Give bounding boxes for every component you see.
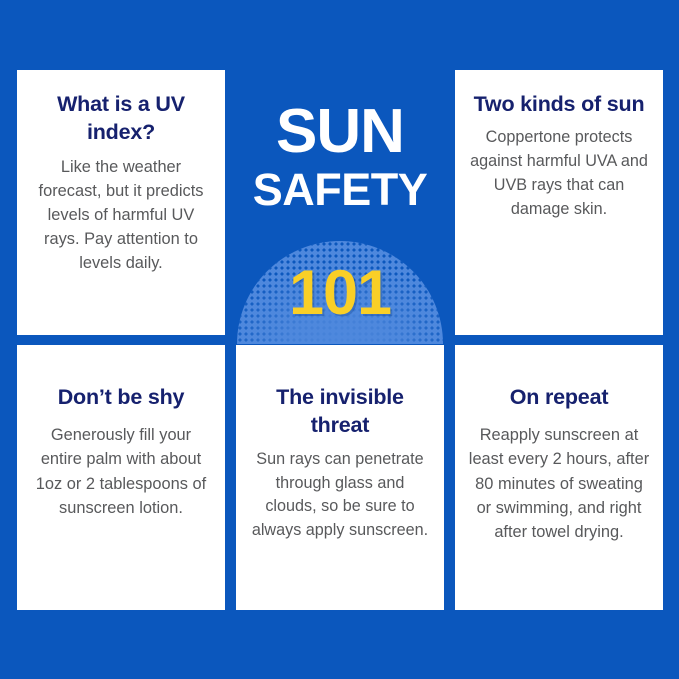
sun-safety-logo: SUN SAFETY 101 bbox=[236, 70, 444, 335]
card-title: What is a UV index? bbox=[29, 90, 213, 147]
card-title: The invisible threat bbox=[248, 383, 432, 440]
card-grid: What is a UV index? Like the weather for… bbox=[17, 70, 663, 610]
logo-badge-101: 101 bbox=[289, 262, 391, 325]
card-title: Don’t be shy bbox=[58, 383, 185, 411]
card-body: Like the weather forecast, but it predic… bbox=[29, 155, 213, 276]
logo-line-safety: SAFETY bbox=[253, 167, 428, 213]
card-title: On repeat bbox=[510, 383, 609, 411]
card-body: Reapply sunscreen at least every 2 hours… bbox=[467, 423, 651, 544]
logo-wordmark: SUN SAFETY bbox=[236, 70, 444, 213]
card-uv-index: What is a UV index? Like the weather for… bbox=[17, 70, 225, 335]
card-two-kinds-of-sun: Two kinds of sun Coppertone protects aga… bbox=[455, 70, 663, 335]
card-body: Generously fill your entire palm with ab… bbox=[29, 423, 213, 519]
card-body: Coppertone protects against harmful UVA … bbox=[467, 126, 651, 221]
sun-safety-infographic: What is a UV index? Like the weather for… bbox=[0, 0, 679, 679]
card-invisible-threat: The invisible threat Sun rays can penetr… bbox=[236, 345, 444, 610]
card-body: Sun rays can penetrate through glass and… bbox=[248, 448, 432, 543]
logo-line-sun: SUN bbox=[276, 102, 404, 163]
card-on-repeat: On repeat Reapply sunscreen at least eve… bbox=[455, 345, 663, 610]
card-title: Two kinds of sun bbox=[474, 90, 645, 118]
card-dont-be-shy: Don’t be shy Generously fill your entire… bbox=[17, 345, 225, 610]
